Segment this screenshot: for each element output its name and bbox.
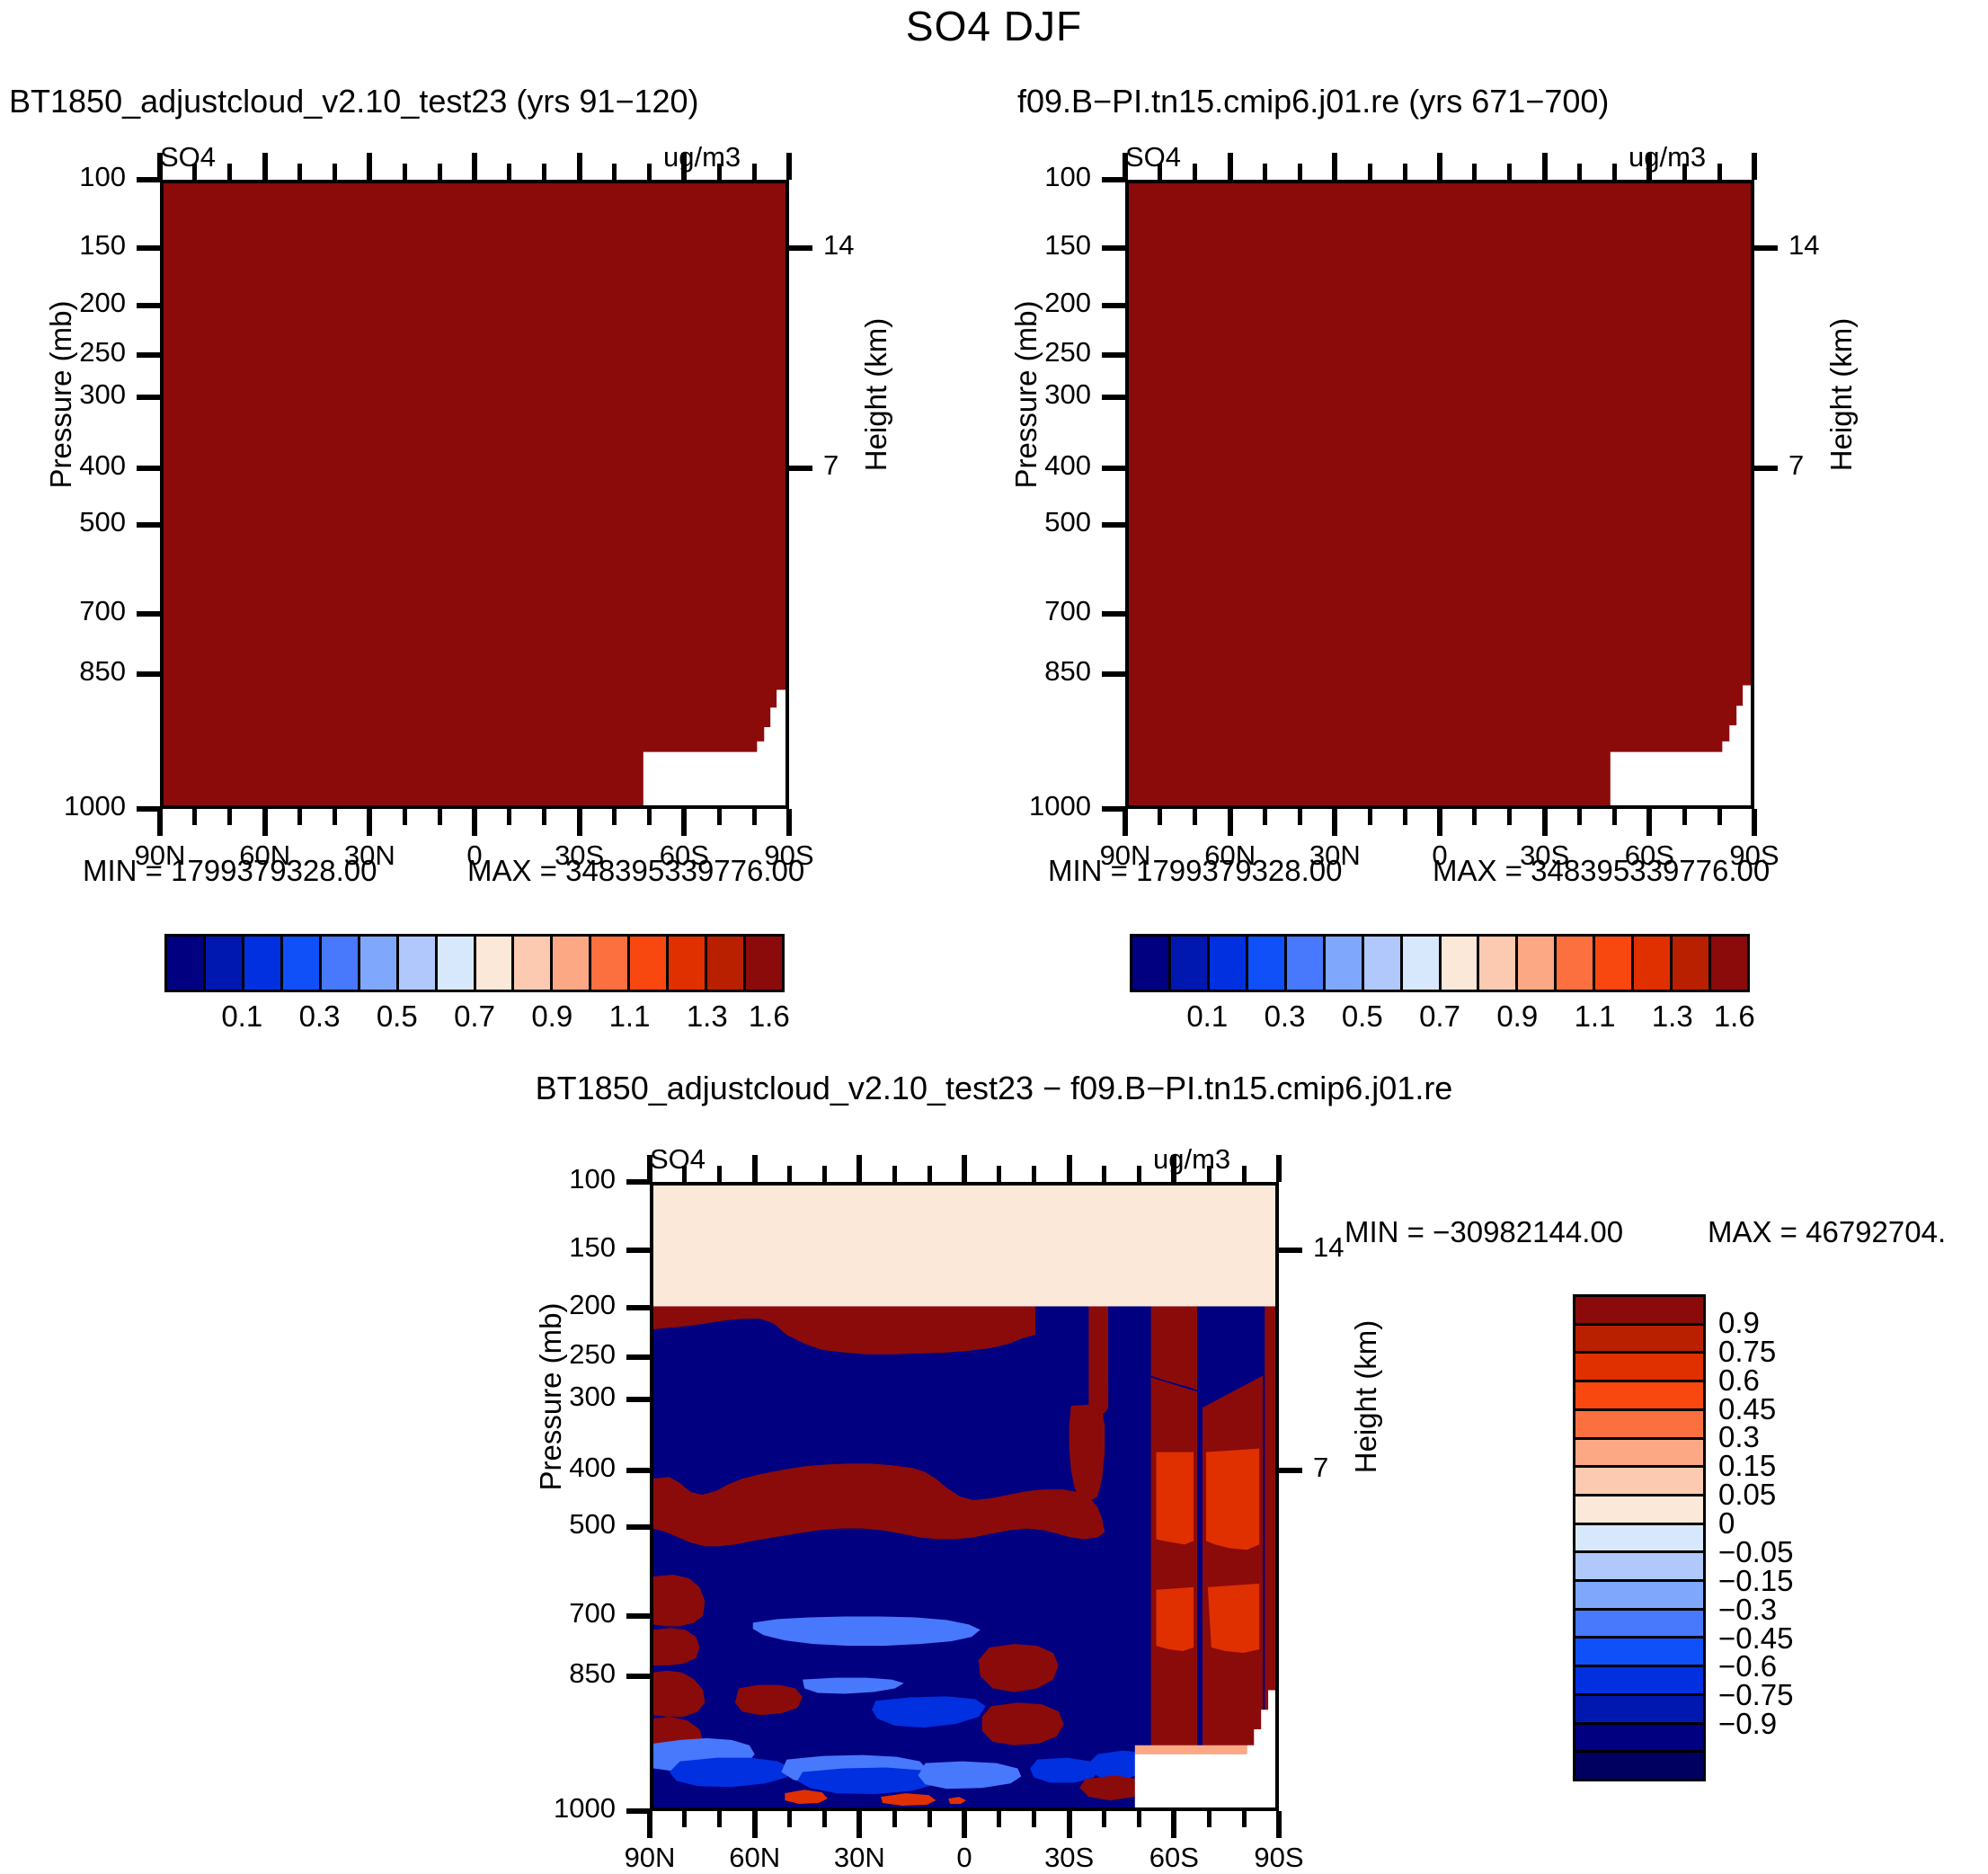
diff-panel-colorbar-labels: 0.90.750.60.450.30.150.050−0.05−0.15−0.3…: [1718, 1294, 1907, 1781]
y-tick-mark: [137, 611, 160, 617]
height-tick-mark: [1279, 1468, 1302, 1473]
y-tick-label: 250: [497, 1338, 616, 1371]
x-tick-mark: [367, 809, 372, 836]
x-minor-tick-top: [1298, 164, 1302, 180]
colorbar-tick-label: 1.1: [609, 999, 651, 1034]
colorbar-tick-label: 0.7: [1419, 999, 1460, 1034]
x-minor-tick-top: [1577, 164, 1582, 180]
y-tick-mark: [1102, 352, 1125, 358]
diff-panel-variable-label: SO4: [650, 1143, 706, 1176]
y-tick-mark: [137, 245, 160, 251]
colorbar-tick-label: 1.6: [749, 999, 790, 1034]
y-tick-label: 150: [7, 229, 126, 262]
x-minor-tick: [542, 809, 546, 825]
right-panel-variable-label: SO4: [1125, 141, 1181, 173]
x-tick-mark: [1332, 809, 1337, 836]
x-tick-mark-top: [786, 153, 792, 180]
y-tick-label: 700: [7, 595, 126, 627]
y-tick-mark: [1102, 395, 1125, 400]
x-minor-tick: [1158, 809, 1162, 825]
y-tick-label: 1000: [497, 1792, 616, 1825]
x-tick-mark: [1171, 1811, 1176, 1838]
diff-colorbar-cell: [1575, 1326, 1703, 1354]
x-tick-mark-top: [1171, 1155, 1176, 1182]
colorbar-cell: [244, 937, 283, 990]
colorbar-tick-label: 0.3: [299, 999, 341, 1034]
y-tick-mark: [137, 352, 160, 358]
x-minor-tick-top: [438, 164, 442, 180]
colorbar-cell: [1210, 937, 1248, 990]
x-minor-tick-top: [1717, 164, 1722, 180]
colorbar-cell: [591, 937, 630, 990]
y-tick-mark: [1102, 466, 1125, 471]
diff-colorbar-cell: [1575, 1411, 1703, 1440]
x-minor-tick-top: [717, 164, 722, 180]
right-panel-min-label: MIN = 1799379328.00: [1048, 854, 1343, 888]
x-minor-tick-top: [1032, 1166, 1036, 1182]
x-minor-tick-top: [892, 1166, 897, 1182]
colorbar-cell: [1479, 937, 1518, 990]
x-minor-tick-top: [787, 1166, 792, 1182]
y-tick-mark: [1102, 245, 1125, 251]
x-tick-label: 90S: [1216, 1842, 1342, 1874]
x-tick-mark: [786, 809, 792, 836]
diff-colorbar-cell: [1575, 1553, 1703, 1582]
x-tick-mark: [157, 809, 163, 836]
x-minor-tick: [892, 1811, 897, 1827]
colorbar-tick-label: 1.3: [1652, 999, 1693, 1034]
y-tick-label: 200: [972, 287, 1091, 319]
diff-panel-plot-area: [650, 1182, 1279, 1811]
x-tick-mark-top: [1123, 153, 1128, 180]
x-tick-mark-top: [752, 1155, 758, 1182]
y-tick-label: 300: [972, 378, 1091, 411]
x-minor-tick: [333, 809, 337, 825]
x-minor-tick-top: [1263, 164, 1267, 180]
x-minor-tick-top: [822, 1166, 827, 1182]
x-minor-tick-top: [1507, 164, 1512, 180]
y-tick-label: 200: [7, 287, 126, 319]
x-tick-mark-top: [962, 1155, 967, 1182]
colorbar-cell: [322, 937, 360, 990]
x-minor-tick: [1368, 809, 1372, 825]
y-tick-mark: [626, 1248, 650, 1253]
x-tick-mark-top: [1276, 1155, 1282, 1182]
x-minor-tick-top: [192, 164, 197, 180]
diff-panel-title: BT1850_adjustcloud_v2.10_test23 − f09.B−…: [0, 1070, 1988, 1107]
x-tick-mark: [1228, 809, 1233, 836]
x-minor-tick: [1207, 1811, 1211, 1827]
x-tick-mark: [1276, 1811, 1282, 1838]
diff-colorbar-cell: [1575, 1297, 1703, 1326]
y-tick-label: 850: [497, 1657, 616, 1690]
colorbar-cell: [746, 937, 782, 990]
x-minor-tick-top: [682, 1166, 687, 1182]
y-tick-label: 150: [972, 229, 1091, 262]
x-minor-tick-top: [1242, 1166, 1247, 1182]
colorbar-cell: [707, 937, 746, 990]
colorbar-cell: [399, 937, 438, 990]
colorbar-tick-label: 0.1: [1186, 999, 1228, 1034]
x-tick-mark-top: [681, 153, 687, 180]
x-minor-tick: [1137, 1811, 1141, 1827]
y-tick-label: 300: [497, 1381, 616, 1413]
x-tick-mark: [472, 809, 477, 836]
height-tick-label: 7: [1313, 1452, 1376, 1484]
x-minor-tick: [612, 809, 617, 825]
diff-colorbar-cell: [1575, 1696, 1703, 1725]
left-panel-colorbar: [164, 934, 785, 992]
colorbar-cell: [1442, 937, 1480, 990]
y-tick-mark: [626, 1674, 650, 1679]
x-minor-tick-top: [997, 1166, 1001, 1182]
y-tick-label: 500: [497, 1508, 616, 1541]
diff-colorbar-cell: [1575, 1440, 1703, 1469]
colorbar-cell: [1634, 937, 1673, 990]
colorbar-cell: [360, 937, 399, 990]
x-minor-tick: [1102, 1811, 1106, 1827]
colorbar-tick-label: 1.3: [687, 999, 728, 1034]
y-tick-label: 400: [7, 449, 126, 482]
x-tick-mark-top: [472, 153, 477, 180]
x-tick-mark-top: [1228, 153, 1233, 180]
x-minor-tick: [1193, 809, 1197, 825]
y-tick-label: 400: [497, 1452, 616, 1484]
left-panel-colorbar-labels: 0.10.30.50.70.91.11.31.6: [164, 999, 785, 1039]
x-minor-tick: [822, 1811, 827, 1827]
y-tick-mark: [626, 1354, 650, 1360]
x-minor-tick: [927, 1811, 932, 1827]
colorbar-cell: [283, 937, 322, 990]
x-minor-tick-top: [1403, 164, 1407, 180]
x-minor-tick-top: [647, 164, 652, 180]
x-minor-tick-top: [1207, 1166, 1211, 1182]
x-minor-tick-top: [1368, 164, 1372, 180]
y-tick-mark: [1102, 611, 1125, 617]
height-tick-mark: [1754, 245, 1778, 251]
y-tick-mark: [1102, 671, 1125, 677]
x-tick-mark: [1752, 809, 1757, 836]
x-tick-mark-top: [577, 153, 582, 180]
right-panel-contour-fill: [1129, 183, 1751, 805]
x-minor-tick-top: [1102, 1166, 1106, 1182]
x-tick-mark: [681, 809, 687, 836]
colorbar-cell: [1364, 937, 1403, 990]
colorbar-tick-label: 0.3: [1265, 999, 1306, 1034]
colorbar-cell: [553, 937, 591, 990]
x-minor-tick: [647, 809, 652, 825]
colorbar-cell: [1595, 937, 1634, 990]
x-minor-tick: [717, 1811, 722, 1827]
x-minor-tick: [1682, 809, 1687, 825]
x-tick-mark: [752, 1811, 758, 1838]
y-tick-label: 300: [7, 378, 126, 411]
x-minor-tick-top: [403, 164, 407, 180]
colorbar-tick-label: 0.1: [221, 999, 262, 1034]
y-tick-label: 500: [7, 506, 126, 538]
x-minor-tick-top: [227, 164, 232, 180]
colorbar-tick-label: 0.7: [454, 999, 495, 1034]
y-tick-mark: [626, 1305, 650, 1310]
diff-colorbar-cell: [1575, 1497, 1703, 1525]
y-tick-label: 850: [972, 655, 1091, 688]
x-minor-tick: [787, 1811, 792, 1827]
x-minor-tick-top: [542, 164, 546, 180]
x-minor-tick-top: [717, 1166, 722, 1182]
y-tick-mark: [137, 395, 160, 400]
x-minor-tick-top: [1158, 164, 1162, 180]
colorbar-cell: [1287, 937, 1326, 990]
x-tick-mark-top: [1752, 153, 1757, 180]
y-tick-mark: [137, 303, 160, 308]
x-minor-tick-top: [1472, 164, 1477, 180]
x-minor-tick: [1577, 809, 1582, 825]
y-tick-mark: [137, 466, 160, 471]
height-tick-label: 14: [823, 229, 886, 262]
height-tick-mark: [789, 466, 812, 471]
y-tick-label: 500: [972, 506, 1091, 538]
colorbar-tick-label: 1.6: [1714, 999, 1755, 1034]
x-minor-tick-top: [1682, 164, 1687, 180]
colorbar-cell: [1557, 937, 1595, 990]
x-minor-tick: [297, 809, 302, 825]
y-tick-mark: [1102, 522, 1125, 528]
y-tick-mark: [626, 1468, 650, 1473]
x-minor-tick-top: [333, 164, 337, 180]
x-tick-mark: [1067, 1811, 1072, 1838]
colorbar-cell: [630, 937, 669, 990]
y-tick-label: 400: [972, 449, 1091, 482]
x-tick-mark-top: [647, 1155, 652, 1182]
x-tick-mark-top: [1542, 153, 1548, 180]
y-tick-mark: [137, 522, 160, 528]
x-minor-tick: [507, 809, 511, 825]
diff-panel-max-label: MAX = 46792704.: [1708, 1215, 1946, 1249]
colorbar-tick-label: 0.5: [1342, 999, 1383, 1034]
x-tick-mark-top: [1067, 1155, 1072, 1182]
x-tick-mark-top: [262, 153, 268, 180]
diff-colorbar-cell: [1575, 1667, 1703, 1696]
x-minor-tick: [752, 809, 757, 825]
x-minor-tick-top: [1137, 1166, 1141, 1182]
diff-colorbar-cell: [1575, 1468, 1703, 1497]
y-tick-label: 250: [7, 336, 126, 369]
diff-panel-units-label: ug/m3: [1153, 1143, 1230, 1176]
colorbar-cell: [514, 937, 553, 990]
y-tick-mark: [626, 1397, 650, 1402]
colorbar-cell: [669, 937, 707, 990]
x-tick-mark-top: [367, 153, 372, 180]
x-tick-mark-top: [1332, 153, 1337, 180]
right-panel-units-label: ug/m3: [1629, 141, 1706, 173]
y-tick-label: 100: [7, 161, 126, 193]
x-minor-tick-top: [1193, 164, 1197, 180]
figure-title: SO4 DJF: [0, 2, 1988, 50]
x-minor-tick: [1403, 809, 1407, 825]
colorbar-cell: [1711, 937, 1747, 990]
x-tick-mark: [1542, 809, 1548, 836]
x-minor-tick-top: [752, 164, 757, 180]
x-minor-tick: [682, 1811, 687, 1827]
y-tick-label: 250: [972, 336, 1091, 369]
colorbar-cell: [1326, 937, 1364, 990]
y-tick-mark: [1102, 303, 1125, 308]
left-panel-title: BT1850_adjustcloud_v2.10_test23 (yrs 91−…: [9, 83, 962, 120]
x-minor-tick-top: [507, 164, 511, 180]
x-minor-tick: [403, 809, 407, 825]
right-panel-title: f09.B−PI.tn15.cmip6.j01.re (yrs 671−700): [1017, 83, 1979, 120]
left-panel-max-label: MAX = 348395339776.00: [467, 854, 804, 888]
right-panel-max-label: MAX = 348395339776.00: [1433, 854, 1770, 888]
x-minor-tick: [1472, 809, 1477, 825]
diff-colorbar-cell: [1575, 1611, 1703, 1639]
y-tick-label: 1000: [7, 790, 126, 822]
diff-colorbar-cell: [1575, 1725, 1703, 1754]
y-tick-label: 200: [497, 1289, 616, 1321]
x-minor-tick: [717, 809, 722, 825]
y-tick-label: 1000: [972, 790, 1091, 822]
colorbar-cell: [1248, 937, 1287, 990]
x-minor-tick: [1032, 1811, 1036, 1827]
x-tick-mark: [1123, 809, 1128, 836]
y-tick-label: 850: [7, 655, 126, 688]
height-tick-label: 7: [1788, 449, 1851, 482]
diff-panel-colorbar: [1573, 1294, 1706, 1781]
x-tick-mark-top: [1437, 153, 1442, 180]
left-panel-contour-fill: [164, 183, 785, 805]
x-tick-mark: [262, 809, 268, 836]
colorbar-cell: [206, 937, 244, 990]
x-minor-tick: [1263, 809, 1267, 825]
colorbar-cell: [1673, 937, 1711, 990]
right-panel-colorbar: [1130, 934, 1750, 992]
y-tick-mark: [626, 1613, 650, 1619]
x-tick-mark-top: [157, 153, 163, 180]
x-tick-mark-top: [856, 1155, 862, 1182]
y-tick-mark: [626, 1524, 650, 1530]
left-panel-variable-label: SO4: [160, 141, 216, 173]
colorbar-cell: [1171, 937, 1210, 990]
x-minor-tick: [997, 1811, 1001, 1827]
colorbar-cell: [1132, 937, 1171, 990]
x-tick-mark: [1437, 809, 1442, 836]
x-minor-tick: [192, 809, 197, 825]
x-minor-tick-top: [612, 164, 617, 180]
diff-colorbar-cell: [1575, 1753, 1703, 1779]
diff-colorbar-cell: [1575, 1582, 1703, 1611]
height-tick-mark: [1754, 466, 1778, 471]
x-tick-mark-top: [1646, 153, 1652, 180]
colorbar-tick-label: 1.1: [1575, 999, 1616, 1034]
height-tick-mark: [789, 245, 812, 251]
x-tick-mark: [962, 1811, 967, 1838]
x-minor-tick: [1298, 809, 1302, 825]
x-tick-mark: [647, 1811, 652, 1838]
y-tick-label: 100: [972, 161, 1091, 193]
colorbar-tick-label: 0.9: [531, 999, 572, 1034]
colorbar-tick-label: 0.9: [1496, 999, 1538, 1034]
left-panel-units-label: ug/m3: [663, 141, 741, 173]
x-minor-tick: [1612, 809, 1617, 825]
colorbar-cell: [476, 937, 515, 990]
left-panel-min-label: MIN = 1799379328.00: [83, 854, 377, 888]
x-minor-tick-top: [1612, 164, 1617, 180]
diff-colorbar-cell: [1575, 1525, 1703, 1554]
right-panel-colorbar-labels: 0.10.30.50.70.91.11.31.6: [1130, 999, 1750, 1039]
y-tick-label: 700: [972, 595, 1091, 627]
x-minor-tick: [1717, 809, 1722, 825]
x-minor-tick-top: [927, 1166, 932, 1182]
left-panel-plot-area: [160, 180, 789, 809]
x-minor-tick: [438, 809, 442, 825]
height-tick-label: 7: [823, 449, 886, 482]
x-minor-tick-top: [297, 164, 302, 180]
x-tick-mark: [856, 1811, 862, 1838]
y-tick-label: 150: [497, 1231, 616, 1264]
diff-panel-min-label: MIN = −30982144.00: [1345, 1215, 1623, 1249]
y-tick-label: 700: [497, 1597, 616, 1630]
diff-panel-contour-fill: [653, 1186, 1275, 1807]
height-tick-label: 14: [1788, 229, 1851, 262]
x-minor-tick: [1507, 809, 1512, 825]
colorbar-cell: [167, 937, 206, 990]
diff-colorbar-cell: [1575, 1382, 1703, 1411]
x-tick-mark: [1646, 809, 1652, 836]
height-tick-mark: [1279, 1248, 1302, 1253]
right-panel-plot-area: [1125, 180, 1754, 809]
diff-colorbar-cell: [1575, 1639, 1703, 1667]
colorbar-cell: [438, 937, 476, 990]
x-minor-tick: [1242, 1811, 1247, 1827]
y-tick-label: 100: [497, 1163, 616, 1195]
y-tick-mark: [137, 671, 160, 677]
x-minor-tick: [227, 809, 232, 825]
x-tick-mark: [577, 809, 582, 836]
diff-colorbar-cell: [1575, 1354, 1703, 1382]
colorbar-tick-label: 0.5: [377, 999, 418, 1034]
diff-colorbar-tick-label: −0.9: [1718, 1707, 1777, 1741]
colorbar-cell: [1403, 937, 1442, 990]
colorbar-cell: [1518, 937, 1557, 990]
